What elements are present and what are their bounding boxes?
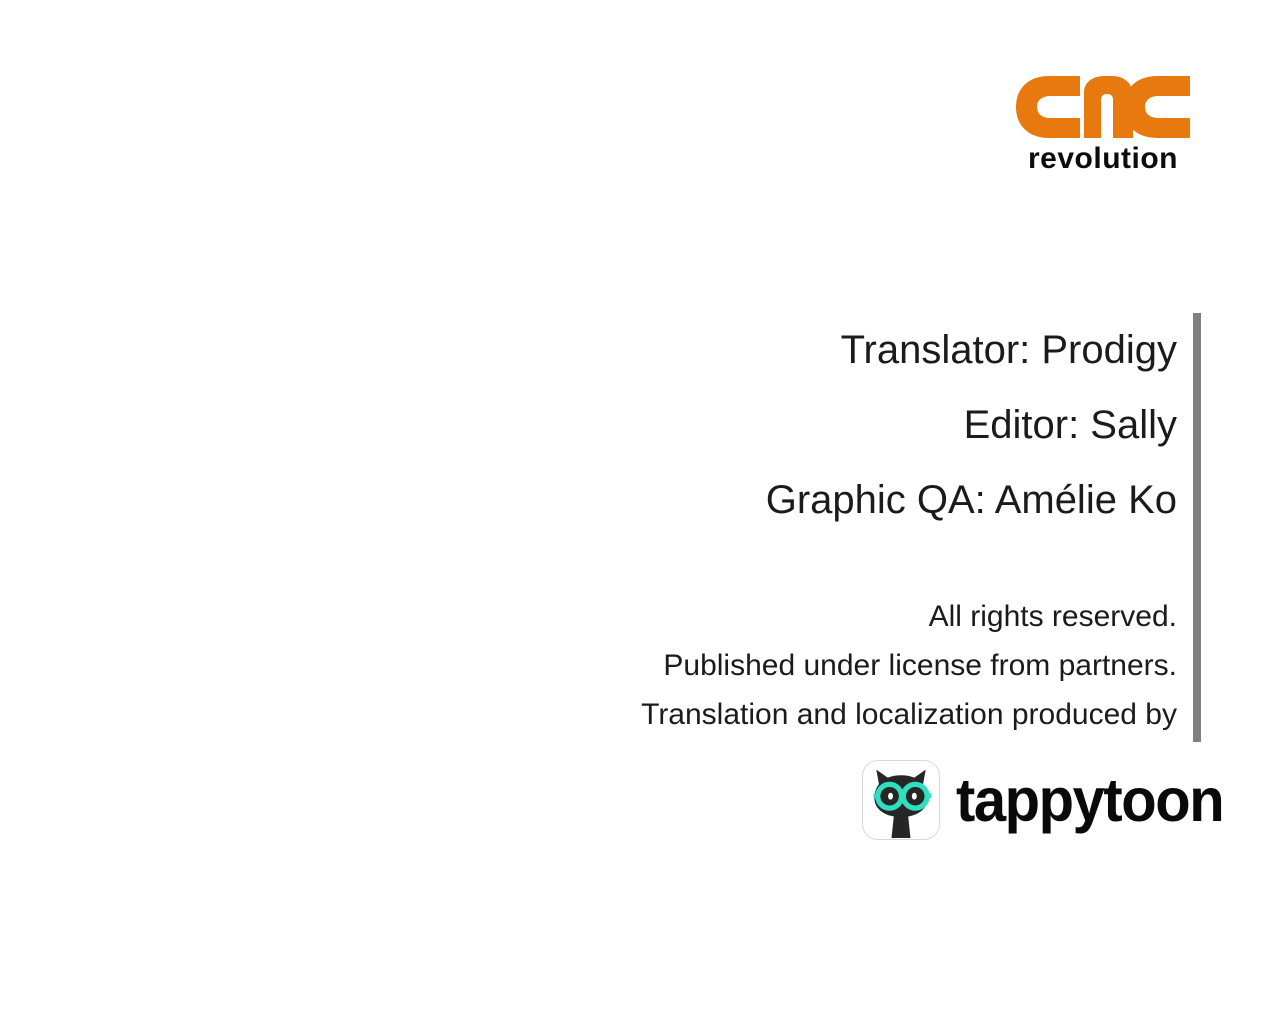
cnc-wordmark-icon <box>1012 74 1194 140</box>
credit-line-editor: Editor: Sally <box>420 388 1177 463</box>
rights-line-all-rights: All rights reserved. <box>420 592 1177 641</box>
cat-with-glasses-icon <box>863 761 939 839</box>
credit-line-translator: Translator: Prodigy <box>420 313 1177 388</box>
rights-block: All rights reserved. Published under lic… <box>420 592 1177 739</box>
credits-divider <box>1193 313 1201 742</box>
credits-block: Translator: Prodigy Editor: Sally Graphi… <box>420 313 1177 538</box>
rights-line-license: Published under license from partners. <box>420 641 1177 690</box>
rights-line-localization: Translation and localization produced by <box>420 690 1177 739</box>
tappytoon-cat-tile <box>862 760 940 840</box>
tappytoon-wordmark: tappytoon <box>956 768 1223 832</box>
publisher-subtitle: revolution <box>1012 142 1194 176</box>
publisher-logo: revolution <box>1012 74 1194 178</box>
platform-logo: tappytoon <box>862 758 1194 842</box>
credit-line-graphic-qa: Graphic QA: Amélie Ko <box>420 463 1177 538</box>
